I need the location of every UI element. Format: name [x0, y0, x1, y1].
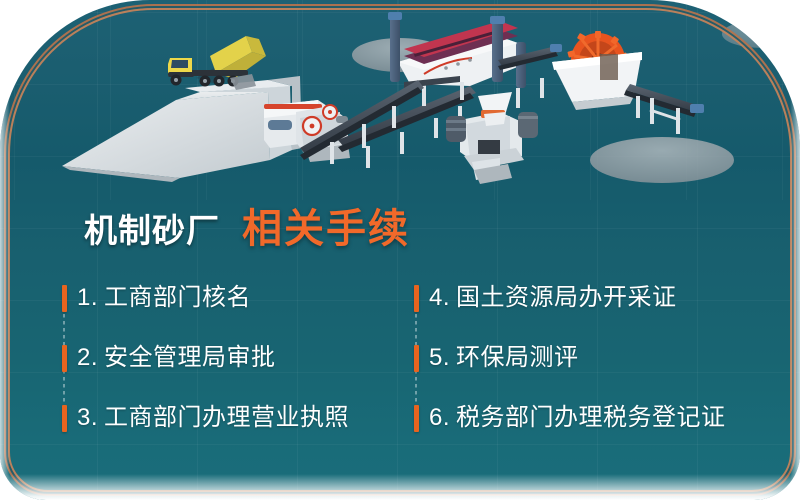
list-item: 6. 税务部门办理税务登记证 — [414, 388, 754, 448]
item-marker-icon — [414, 345, 419, 372]
dump-truck-icon — [168, 36, 266, 90]
list-item-label: 环保局测评 — [456, 346, 579, 370]
list-item: 5. 环保局测评 — [414, 328, 754, 388]
edge-fade-bottom — [0, 474, 800, 500]
list-item: 3. 工商部门办理营业执照 — [62, 388, 402, 448]
list-item-label: 安全管理局审批 — [104, 346, 276, 370]
item-marker-icon — [62, 345, 67, 372]
list-item-label: 工商部门办理营业执照 — [104, 406, 349, 430]
sand-washer-wheel-icon — [552, 31, 642, 110]
production-line-svg — [0, 0, 800, 200]
headline: 机制砂厂 相关手续 — [84, 196, 410, 254]
list-item-label: 国土资源局办开采证 — [456, 286, 677, 310]
list-item-index: 4. — [429, 286, 450, 310]
item-marker-icon — [414, 405, 419, 432]
list-item: 1. 工商部门核名 — [62, 268, 402, 328]
stockpile-icon — [590, 137, 734, 183]
list-item-label: 税务部门办理税务登记证 — [456, 406, 726, 430]
procedures-column-left: 1. 工商部门核名 2. 安全管理局审批 3. 工商部门办理营业执照 — [62, 268, 402, 448]
list-item-index: 2. — [77, 346, 98, 370]
item-marker-icon — [62, 405, 67, 432]
production-line-illustration — [0, 0, 800, 200]
procedures-list: 1. 工商部门核名 2. 安全管理局审批 3. 工商部门办理营业执照 — [0, 268, 800, 448]
headline-primary: 机制砂厂 — [84, 204, 220, 252]
belt-conveyor-icon — [624, 84, 704, 134]
sand-plant-procedures-banner: 机制砂厂 相关手续 1. 工商部门核名 2. 安全管理局审批 — [0, 0, 800, 500]
sand-maker-icon — [446, 92, 538, 184]
list-item: 4. 国土资源局办开采证 — [414, 268, 754, 328]
procedures-column-right: 4. 国土资源局办开采证 5. 环保局测评 6. 税务部门办理税务登记证 — [414, 268, 754, 448]
list-item-index: 6. — [429, 406, 450, 430]
item-marker-icon — [414, 285, 419, 312]
list-item-index: 1. — [77, 286, 98, 310]
list-item-label: 工商部门核名 — [104, 286, 251, 310]
stockpile-icon — [722, 20, 800, 48]
screen-support-leg — [492, 20, 503, 82]
list-item-index: 3. — [77, 406, 98, 430]
list-item-index: 5. — [429, 346, 450, 370]
banner-card: 机制砂厂 相关手续 1. 工商部门核名 2. 安全管理局审批 — [0, 0, 800, 500]
item-marker-icon — [62, 285, 67, 312]
list-item: 2. 安全管理局审批 — [62, 328, 402, 388]
screen-support-leg — [390, 16, 400, 82]
headline-accent: 相关手续 — [242, 196, 410, 254]
